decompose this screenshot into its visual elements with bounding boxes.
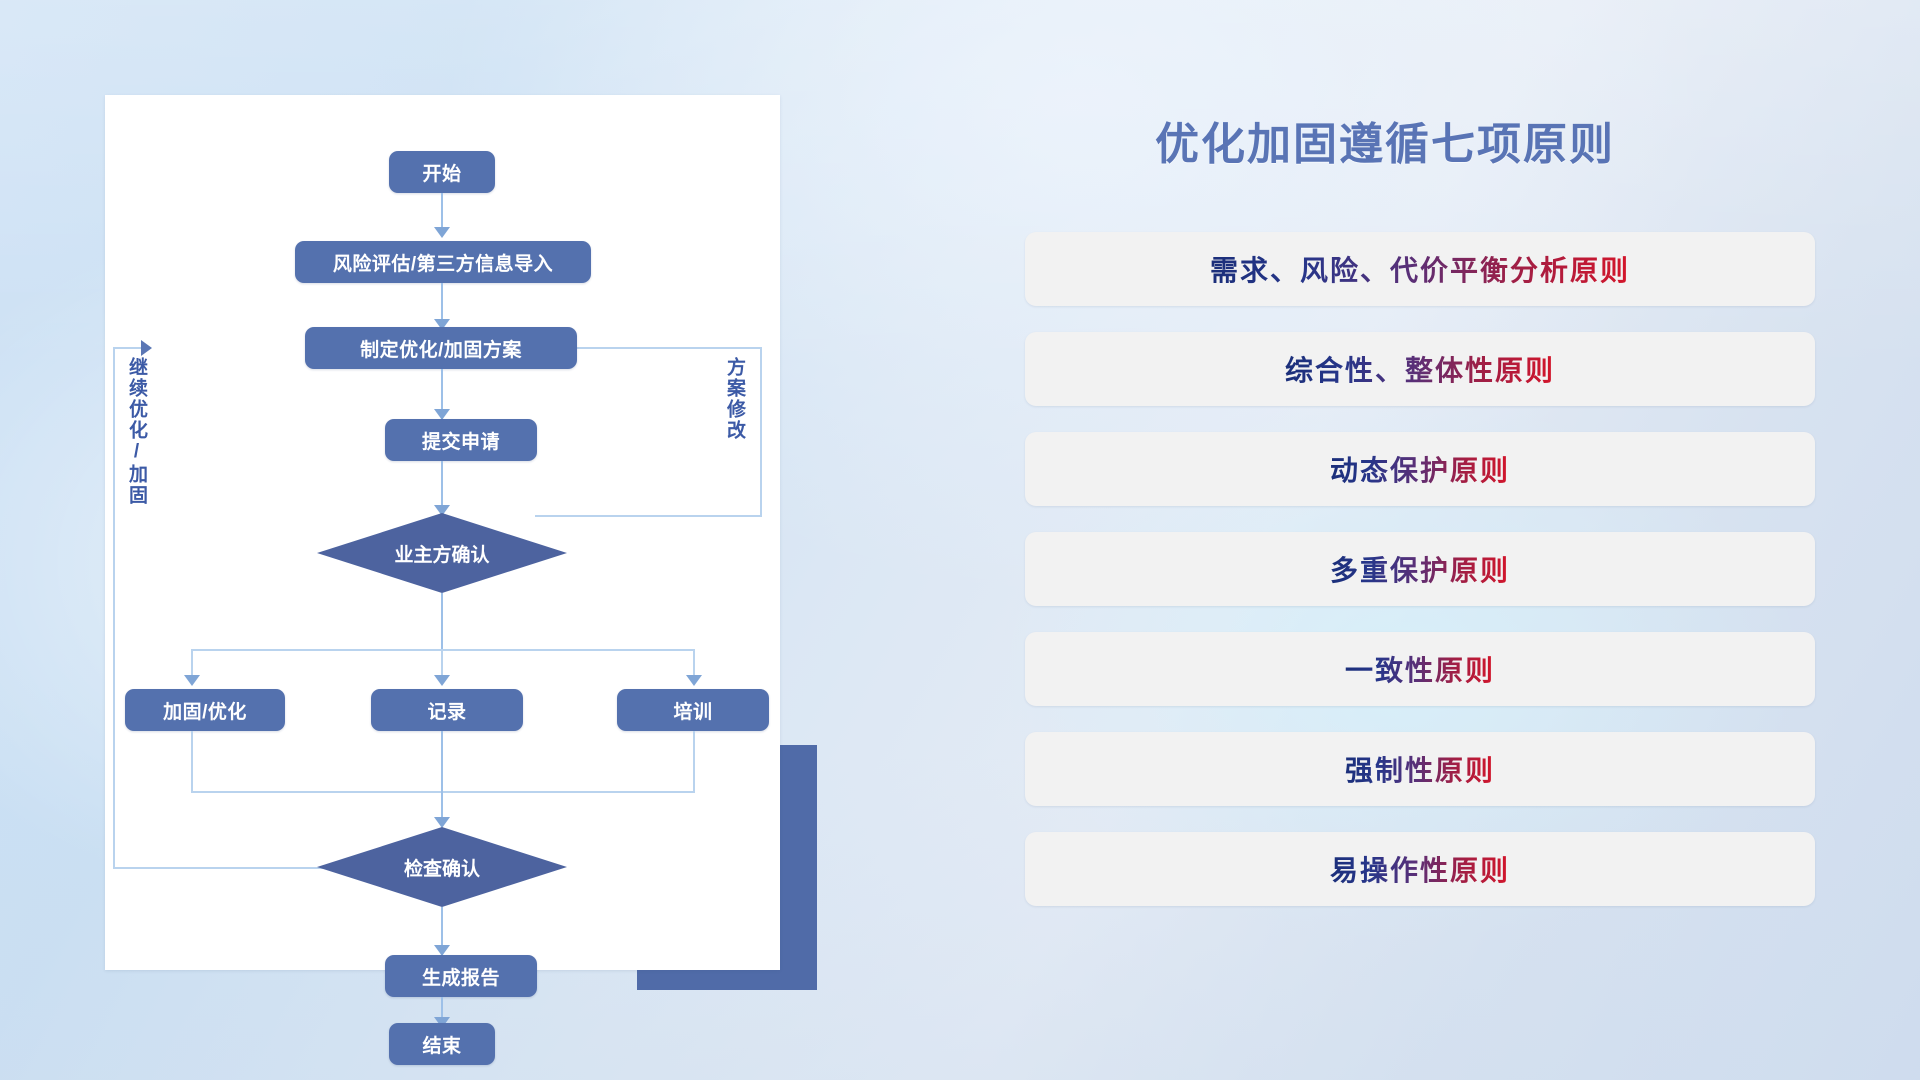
connector-merge-left — [191, 731, 193, 793]
arrowhead-branch-left — [184, 675, 200, 686]
flowchart-canvas: 继续优化/加固 方案修改 开始 风险评估/第三方信息导入 制定优化/加固方案 提… — [105, 95, 780, 970]
flow-node-record-label: 记录 — [427, 697, 466, 724]
principle-card-7[interactable]: 易操作性原则 — [1025, 832, 1815, 906]
principle-card-4-label: 多重保护原则 — [1330, 549, 1510, 589]
flow-node-record[interactable]: 记录 — [371, 689, 523, 731]
edge-label-left: 继续优化/加固 — [127, 357, 146, 506]
flow-node-generate-report-label: 生成报告 — [422, 963, 500, 990]
flow-node-training-label: 培训 — [673, 697, 712, 724]
principle-card-5[interactable]: 一致性原则 — [1025, 632, 1815, 706]
arrowhead-branch-mid — [434, 675, 450, 686]
principle-card-3-label: 动态保护原则 — [1330, 449, 1510, 489]
loop-rail-left-top — [113, 347, 141, 349]
flow-node-generate-report[interactable]: 生成报告 — [385, 955, 537, 997]
flow-decision-final-check[interactable]: 检查确认 — [317, 827, 567, 907]
flow-node-make-plan[interactable]: 制定优化/加固方案 — [305, 327, 577, 369]
arrowhead-start-to-risk — [434, 227, 450, 238]
edge-label-right: 方案修改 — [725, 357, 744, 441]
principle-card-5-label: 一致性原则 — [1345, 649, 1495, 689]
page-title: 优化加固遵循七项原则 — [1155, 108, 1615, 172]
loop-rail-left — [113, 347, 115, 869]
flow-node-risk-assessment-label: 风险评估/第三方信息导入 — [333, 249, 553, 276]
flow-node-reinforce-optimize[interactable]: 加固/优化 — [125, 689, 285, 731]
arrow-loop-left-into-plan — [141, 340, 152, 356]
connector-merge-right — [693, 731, 695, 793]
flow-node-submit-application-label: 提交申请 — [422, 427, 500, 454]
flow-node-submit-application[interactable]: 提交申请 — [385, 419, 537, 461]
flowchart-card: 继续优化/加固 方案修改 开始 风险评估/第三方信息导入 制定优化/加固方案 提… — [105, 95, 780, 970]
principle-card-4[interactable]: 多重保护原则 — [1025, 532, 1815, 606]
flow-node-end-label: 结束 — [422, 1031, 461, 1058]
flow-node-start[interactable]: 开始 — [389, 151, 495, 193]
principle-card-3[interactable]: 动态保护原则 — [1025, 432, 1815, 506]
flow-node-make-plan-label: 制定优化/加固方案 — [360, 335, 522, 362]
flow-node-risk-assessment[interactable]: 风险评估/第三方信息导入 — [295, 241, 591, 283]
loop-rail-right — [760, 347, 762, 517]
arrowhead-branch-right — [686, 675, 702, 686]
flow-node-end[interactable]: 结束 — [389, 1023, 495, 1065]
principle-card-7-label: 易操作性原则 — [1330, 849, 1510, 889]
loop-rail-right-bottom — [535, 515, 762, 517]
principle-card-1-label: 需求、风险、代价平衡分析原则 — [1210, 249, 1630, 289]
principle-card-6-label: 强制性原则 — [1345, 749, 1495, 789]
flow-decision-owner-confirm-label: 业主方确认 — [394, 540, 489, 567]
connector-merge-to-check — [441, 731, 443, 823]
connector-owner-down — [441, 593, 443, 649]
flow-node-reinforce-optimize-label: 加固/优化 — [163, 697, 247, 724]
flow-decision-final-check-label: 检查确认 — [404, 854, 480, 881]
flow-node-training[interactable]: 培训 — [617, 689, 769, 731]
principle-card-2-label: 综合性、整体性原则 — [1285, 349, 1555, 389]
principle-card-2[interactable]: 综合性、整体性原则 — [1025, 332, 1815, 406]
flow-node-start-label: 开始 — [422, 159, 461, 186]
principle-card-1[interactable]: 需求、风险、代价平衡分析原则 — [1025, 232, 1815, 306]
principle-card-6[interactable]: 强制性原则 — [1025, 732, 1815, 806]
principles-list: 需求、风险、代价平衡分析原则 综合性、整体性原则 动态保护原则 多重保护原则 一… — [1025, 232, 1815, 932]
flow-decision-owner-confirm[interactable]: 业主方确认 — [317, 513, 567, 593]
